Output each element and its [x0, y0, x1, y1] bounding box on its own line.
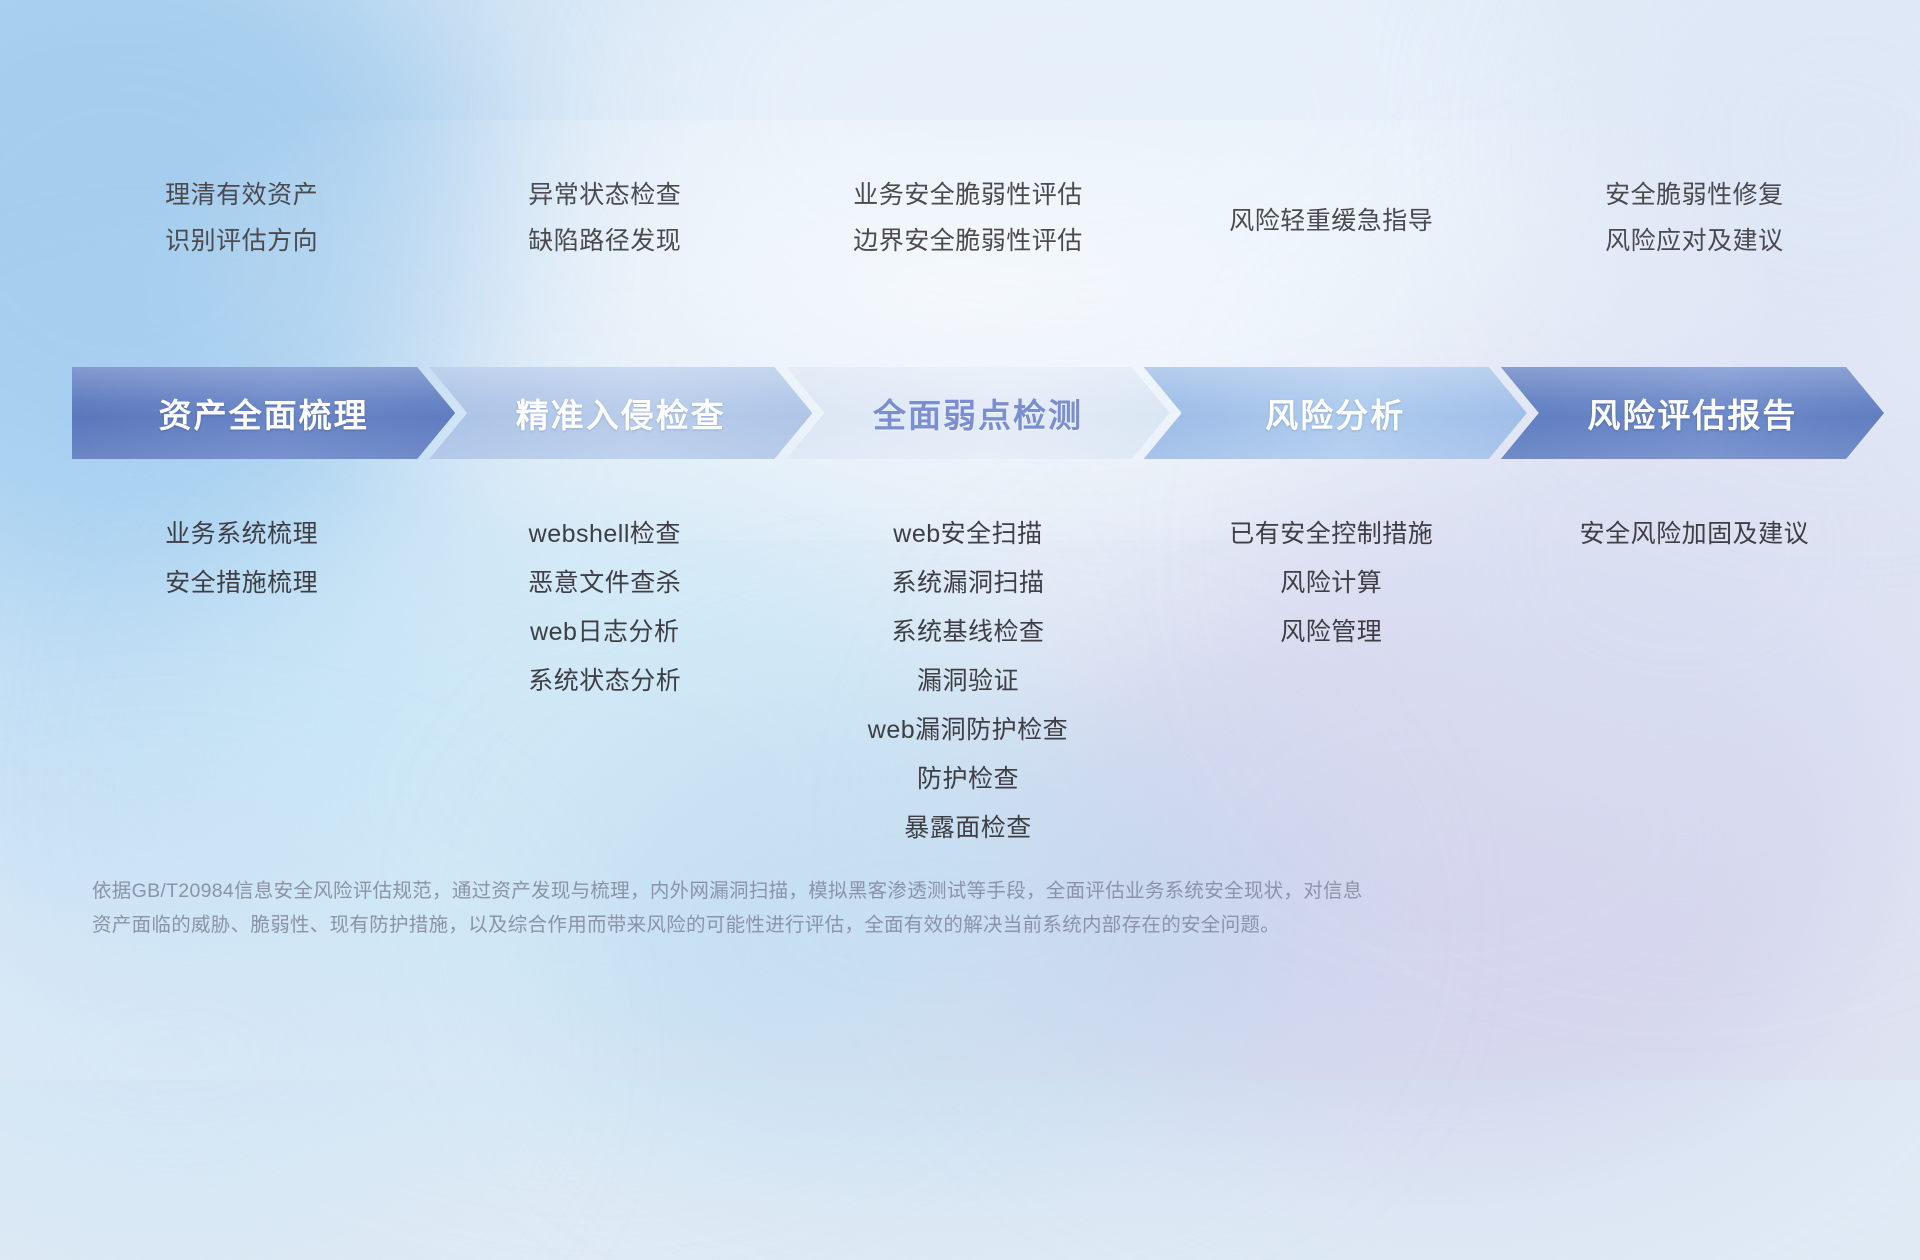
stage-title: 资产全面梳理 [159, 389, 369, 437]
footer-line: 资产面临的威胁、脆弱性、现有防护措施，以及综合作用而带来风险的可能性进行评估，全… [92, 908, 1612, 942]
top-label: 理清有效资产 [165, 172, 318, 218]
stage-chevron-intrusion-check[interactable]: 精准入侵检查 [429, 367, 812, 459]
list-item: web漏洞防护检查 [868, 706, 1068, 755]
top-label: 缺陷路径发现 [528, 218, 681, 264]
top-labels-intrusion-check: 异常状态检查 缺陷路径发现 [423, 172, 786, 264]
stage-title: 风险分析 [1265, 389, 1405, 437]
bottom-list-risk-analysis: 已有安全控制措施 风险计算 风险管理 [1150, 510, 1513, 853]
list-item: 系统状态分析 [528, 657, 681, 706]
list-item: 漏洞验证 [917, 657, 1019, 706]
top-label: 异常状态检查 [528, 172, 681, 218]
top-labels-risk-analysis: 风险轻重缓急指导 [1150, 172, 1513, 264]
list-item: webshell检查 [529, 510, 681, 559]
bottom-list-intrusion-check: webshell检查 恶意文件查杀 web日志分析 系统状态分析 [423, 510, 786, 853]
list-item: 安全风险加固及建议 [1580, 510, 1810, 559]
list-item: web安全扫描 [893, 510, 1042, 559]
footer-line: 依据GB/T20984信息安全风险评估规范，通过资产发现与梳理，内外网漏洞扫描，… [92, 874, 1612, 908]
stage-chevron-asset-inventory[interactable]: 资产全面梳理 [72, 367, 455, 459]
stage-title: 风险评估报告 [1587, 389, 1797, 437]
top-labels-weakness-detection: 业务安全脆弱性评估 边界安全脆弱性评估 [786, 172, 1149, 264]
list-item: 系统基线检查 [891, 608, 1044, 657]
bottom-list-risk-report: 安全风险加固及建议 [1513, 510, 1876, 853]
list-item: 安全措施梳理 [165, 559, 318, 608]
top-label-row: 理清有效资产 识别评估方向 异常状态检查 缺陷路径发现 业务安全脆弱性评估 边界… [60, 172, 1876, 264]
stage-chevron-risk-report[interactable]: 风险评估报告 [1501, 367, 1884, 459]
footer-description: 依据GB/T20984信息安全风险评估规范，通过资产发现与梳理，内外网漏洞扫描，… [92, 874, 1612, 942]
top-labels-risk-report: 安全脆弱性修复 风险应对及建议 [1513, 172, 1876, 264]
list-item: 防护检查 [917, 755, 1019, 804]
stage-chevron-risk-analysis[interactable]: 风险分析 [1144, 367, 1527, 459]
process-diagram: 理清有效资产 识别评估方向 异常状态检查 缺陷路径发现 业务安全脆弱性评估 边界… [0, 0, 1920, 1080]
stage-chevron-band: 资产全面梳理 精准入侵检查 全面弱点检测 风险分析 风险评估报告 [72, 367, 1884, 459]
top-label: 风险轻重缓急指导 [1229, 198, 1433, 244]
list-item: 业务系统梳理 [165, 510, 318, 559]
stage-chevron-weakness-detection[interactable]: 全面弱点检测 [786, 367, 1169, 459]
bottom-list-asset-inventory: 业务系统梳理 安全措施梳理 [60, 510, 423, 853]
list-item: 已有安全控制措施 [1229, 510, 1433, 559]
top-label: 边界安全脆弱性评估 [853, 218, 1083, 264]
top-label: 识别评估方向 [165, 218, 318, 264]
list-item: 恶意文件查杀 [528, 559, 681, 608]
top-labels-asset-inventory: 理清有效资产 识别评估方向 [60, 172, 423, 264]
top-label: 业务安全脆弱性评估 [853, 172, 1083, 218]
list-item: 风险计算 [1280, 559, 1382, 608]
stage-title: 全面弱点检测 [873, 389, 1083, 437]
list-item: web日志分析 [530, 608, 679, 657]
list-item: 系统漏洞扫描 [891, 559, 1044, 608]
stage-title: 精准入侵检查 [516, 389, 726, 437]
top-label: 风险应对及建议 [1605, 218, 1784, 264]
bottom-list-weakness-detection: web安全扫描 系统漏洞扫描 系统基线检查 漏洞验证 web漏洞防护检查 防护检… [786, 510, 1149, 853]
list-item: 暴露面检查 [904, 804, 1032, 853]
bottom-list-row: 业务系统梳理 安全措施梳理 webshell检查 恶意文件查杀 web日志分析 … [60, 510, 1876, 853]
top-label: 安全脆弱性修复 [1605, 172, 1784, 218]
list-item: 风险管理 [1280, 608, 1382, 657]
